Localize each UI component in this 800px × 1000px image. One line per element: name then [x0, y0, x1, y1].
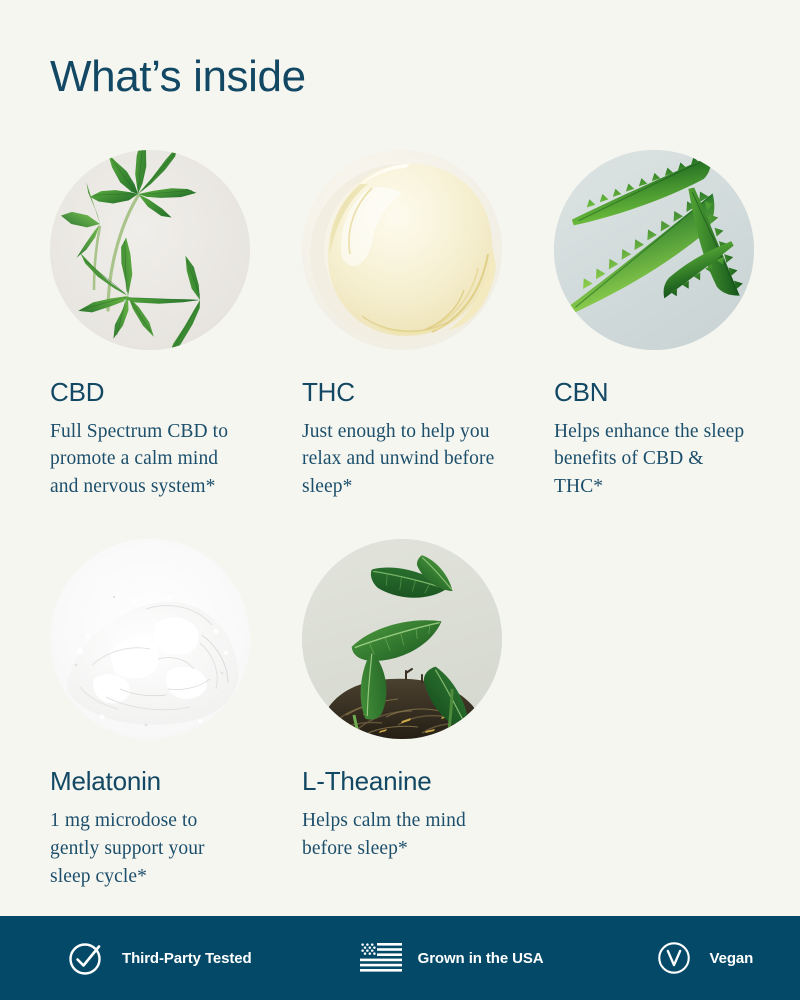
ingredient-image-cbd [50, 150, 250, 350]
badge-label: Vegan [710, 950, 754, 967]
check-circle-icon [66, 938, 106, 978]
white-powder-illustration [50, 539, 250, 739]
ingredient-card-l-theanine: L-Theanine Helps calm the mind before sl… [302, 539, 502, 890]
ingredient-card-thc: THC Just enough to help you relax and un… [302, 150, 502, 501]
ingredient-name: CBD [50, 378, 250, 407]
badge-third-party-tested: Third-Party Tested [66, 938, 252, 978]
ingredient-description: Just enough to help you relax and unwind… [302, 418, 502, 502]
badge-grown-in-the-usa: Grown in the USA [360, 943, 544, 973]
ingredient-description: 1 mg microdose to gently support your sl… [50, 807, 250, 891]
tea-leaves-illustration [302, 539, 502, 739]
vegan-v-circle-icon [654, 938, 694, 978]
ingredient-image-melatonin [50, 539, 250, 739]
oil-droplet-illustration [302, 150, 502, 350]
ingredient-card-cbd: CBD Full Spectrum CBD to promote a calm … [50, 150, 250, 501]
ingredient-name: L-Theanine [302, 767, 502, 796]
page-title: What’s inside [50, 52, 306, 103]
ingredient-image-thc [302, 150, 502, 350]
ingredient-description: Helps enhance the sleep benefits of CBD … [554, 418, 754, 502]
ingredient-name: THC [302, 378, 502, 407]
trust-badge-bar: Third-Party Tested [0, 916, 800, 1000]
badge-vegan: Vegan [654, 938, 754, 978]
hemp-leaves-illustration [50, 150, 250, 350]
ingredient-name: Melatonin [50, 767, 250, 796]
ingredient-card-cbn: CBN Helps enhance the sleep benefits of … [554, 150, 754, 501]
usa-flag-icon [360, 943, 402, 973]
ingredient-image-cbn [554, 150, 754, 350]
hemp-leaf-closeup-illustration [554, 150, 754, 350]
ingredient-image-l-theanine [302, 539, 502, 739]
ingredient-card-melatonin: Melatonin 1 mg microdose to gently suppo… [50, 539, 250, 890]
ingredient-description: Helps calm the mind before sleep* [302, 807, 502, 863]
ingredient-name: CBN [554, 378, 754, 407]
badge-label: Third-Party Tested [122, 950, 252, 967]
ingredient-description: Full Spectrum CBD to promote a calm mind… [50, 418, 250, 502]
ingredient-grid: CBD Full Spectrum CBD to promote a calm … [50, 150, 750, 890]
badge-label: Grown in the USA [418, 950, 544, 967]
